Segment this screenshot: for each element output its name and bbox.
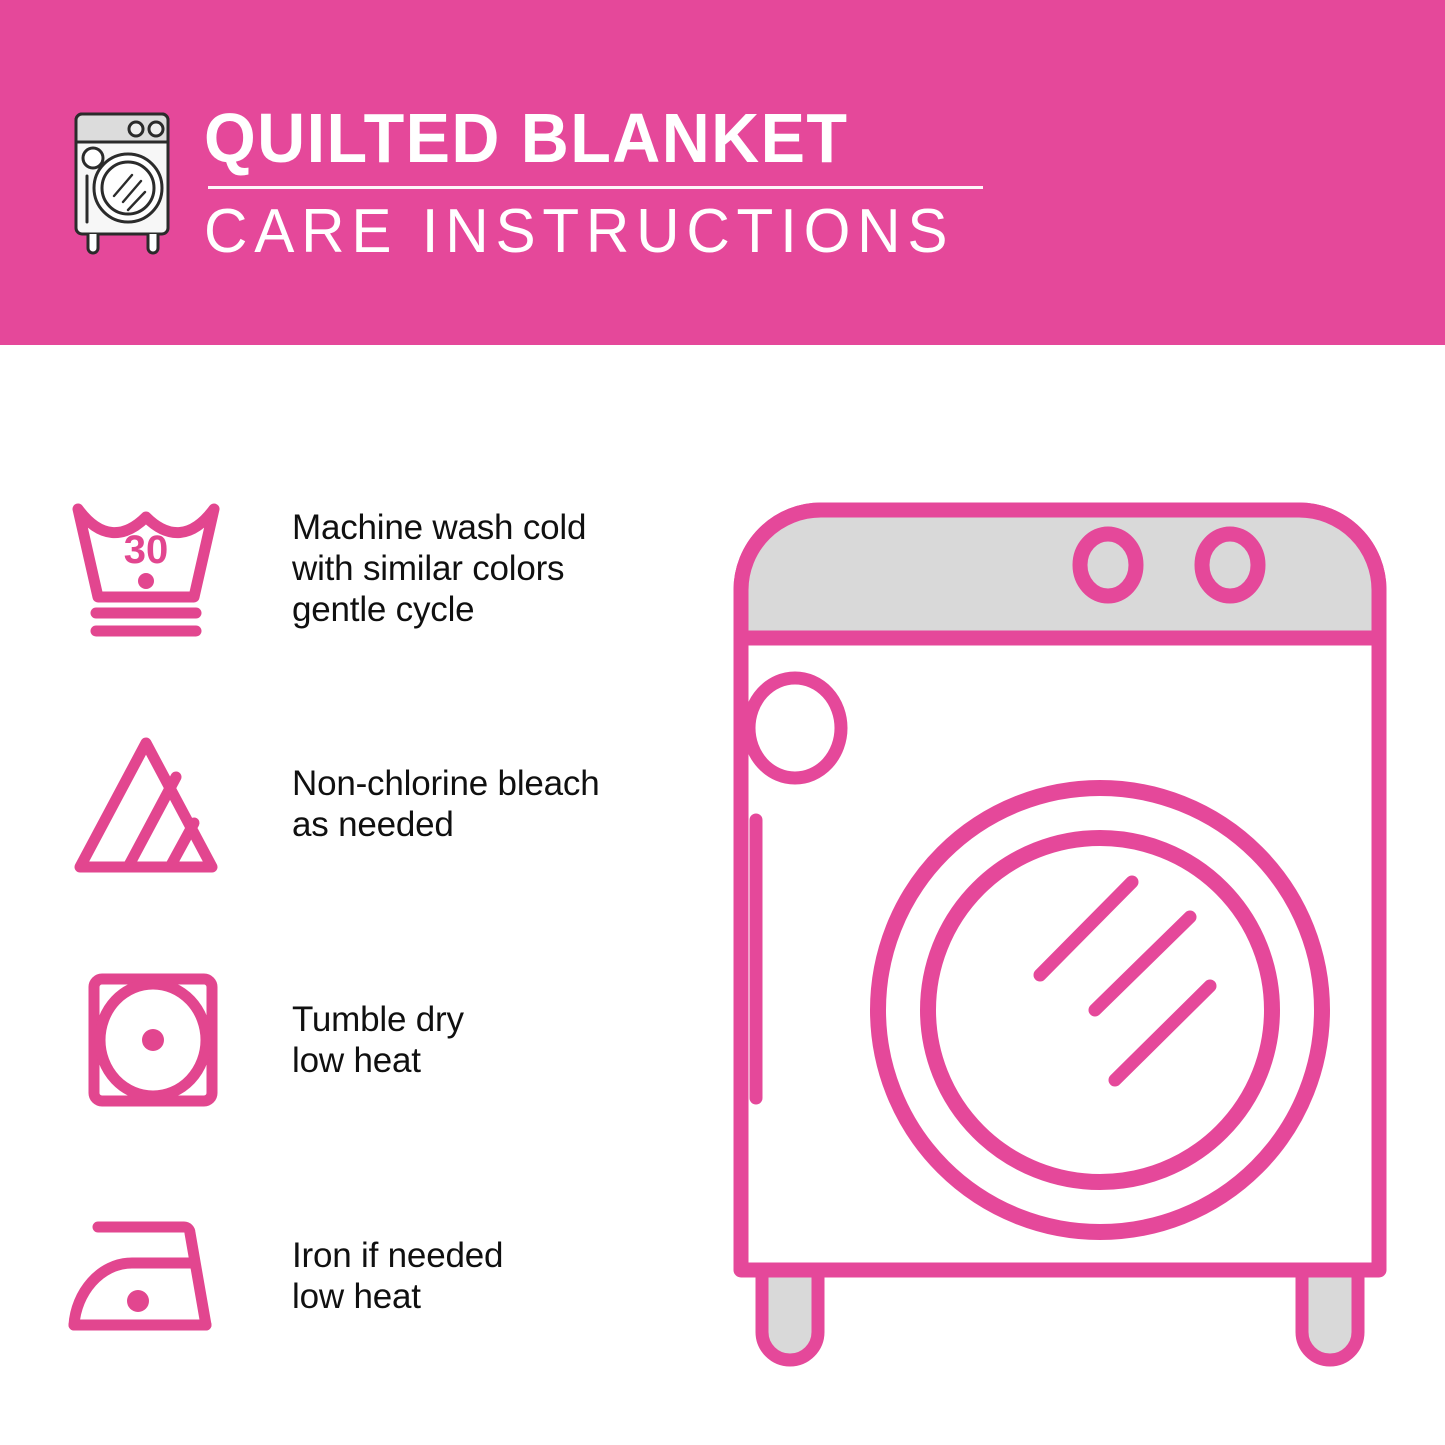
front-load-washing-machine-illustration	[700, 470, 1420, 1380]
wash-temperature-label: 30	[124, 528, 169, 572]
header-banner: QUILTED BLANKET CARE INSTRUCTIONS	[0, 0, 1445, 345]
care-line: Iron if needed	[292, 1235, 503, 1276]
care-line: Non-chlorine bleach	[292, 763, 600, 804]
care-row-tumble-dry: Tumble dry low heat	[62, 960, 682, 1120]
machine-knob-right	[1202, 534, 1258, 596]
page-title: QUILTED BLANKET	[204, 100, 944, 176]
machine-knob-left	[1080, 534, 1136, 596]
care-label-machine-wash: Machine wash cold with similar colors ge…	[292, 507, 586, 630]
title-divider	[208, 186, 983, 189]
care-label-iron: Iron if needed low heat	[292, 1235, 503, 1317]
tumble-dry-low-icon	[62, 965, 230, 1115]
header-title-group: QUILTED BLANKET CARE INSTRUCTIONS	[204, 96, 983, 267]
non-chlorine-bleach-icon	[62, 729, 230, 879]
page-subtitle: CARE INSTRUCTIONS	[204, 197, 960, 267]
washing-machine-icon	[62, 96, 182, 256]
care-line: Tumble dry	[292, 999, 464, 1040]
care-line: as needed	[292, 804, 600, 845]
care-instruction-list: 30 Machine wash cold with similar colors…	[62, 488, 682, 1356]
care-row-machine-wash: 30 Machine wash cold with similar colors…	[62, 488, 682, 648]
machine-wash-30-icon: 30	[62, 493, 230, 643]
machine-control-panel	[741, 510, 1379, 638]
care-line: Machine wash cold	[292, 507, 586, 548]
care-row-bleach: Non-chlorine bleach as needed	[62, 724, 682, 884]
care-line: gentle cycle	[292, 589, 586, 630]
care-line: low heat	[292, 1040, 464, 1081]
care-line: with similar colors	[292, 548, 586, 589]
care-label-tumble-dry: Tumble dry low heat	[292, 999, 464, 1081]
header-content: QUILTED BLANKET CARE INSTRUCTIONS	[62, 96, 983, 267]
care-line: low heat	[292, 1276, 503, 1317]
care-row-iron: Iron if needed low heat	[62, 1196, 682, 1356]
iron-low-heat-icon	[62, 1201, 230, 1351]
care-label-bleach: Non-chlorine bleach as needed	[292, 763, 600, 845]
machine-dial	[749, 678, 841, 778]
